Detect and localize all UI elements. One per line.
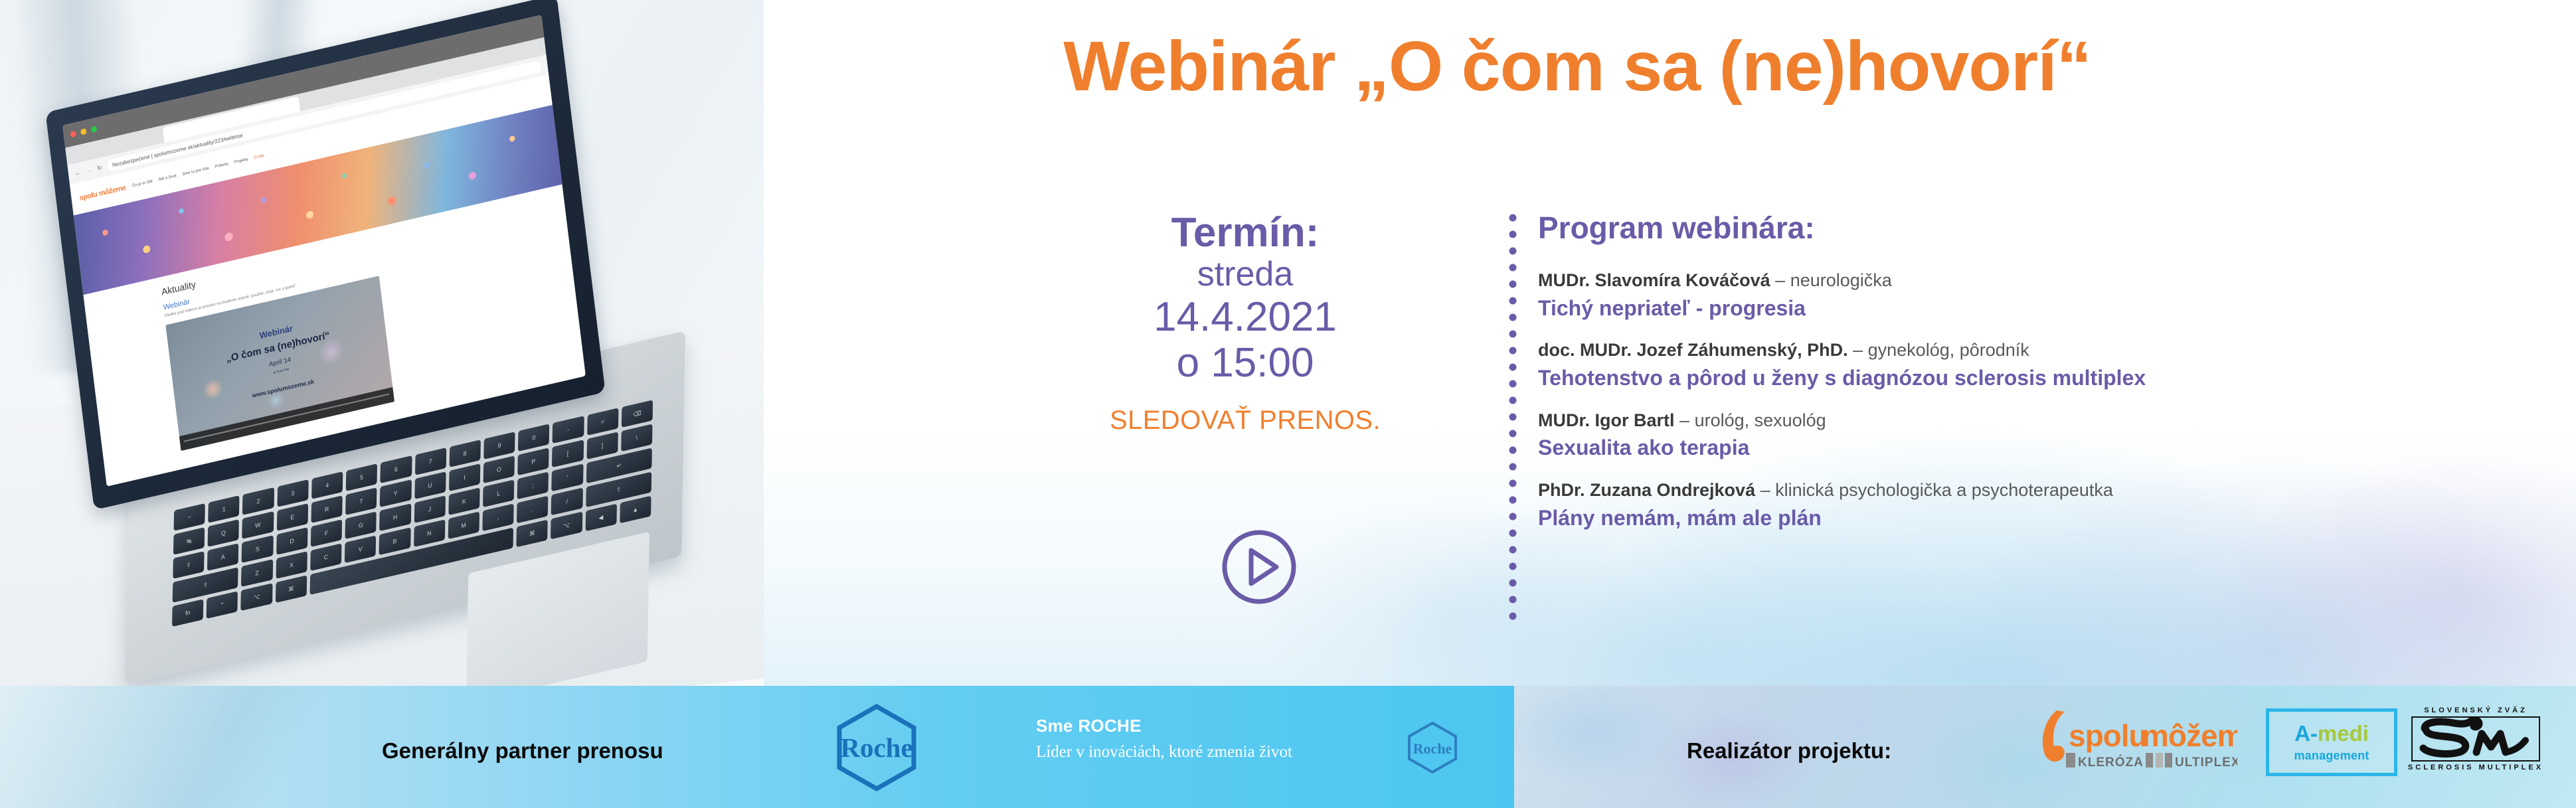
key: ⌃ <box>207 591 238 619</box>
key: Q <box>208 519 240 547</box>
speaker-line: PhDr. Zuzana Ondrejková – klinická psych… <box>1538 479 2534 502</box>
schedule-block: Termín: streda 14.4.2021 o 15:00 SLEDOVA… <box>1016 211 1474 436</box>
key: . <box>517 495 549 523</box>
key: K <box>448 487 480 515</box>
speaker-dash: – <box>1675 410 1695 430</box>
key: C <box>310 543 342 571</box>
roche-tagline: Líder v inováciách, ktoré zmenia život <box>1036 743 1292 762</box>
spolu-mozeme-icon: spolu môžeme KLERÓZA ULTIPLEX <box>2034 705 2237 774</box>
key: U <box>414 471 446 499</box>
key: N <box>414 519 446 547</box>
talk-title: Tehotenstvo a pôrod u ženy s diagnózou s… <box>1538 364 2534 392</box>
svg-text:Roche: Roche <box>1413 740 1452 757</box>
key: ; <box>517 471 549 499</box>
roche-logo-large: Roche <box>831 702 922 793</box>
svg-text:ULTIPLEX: ULTIPLEX <box>2175 756 2237 769</box>
nav-link[interactable]: Čo je to SM <box>132 179 153 188</box>
page-title: Webinár „O čom sa (ne)hovorí“ <box>764 28 2391 106</box>
roche-tagline-bold: Sme ROCHE <box>1036 716 1292 736</box>
general-partner-label: Generálny partner prenosu <box>382 738 663 764</box>
speaker-role: klinická psychologička a psychoterapeutk… <box>1775 480 2113 500</box>
speaker-dash: – <box>1755 480 1775 500</box>
maximize-icon[interactable] <box>90 125 97 133</box>
key: G <box>345 511 377 539</box>
key: D <box>276 527 308 555</box>
key: M <box>448 511 479 539</box>
speaker-line: MUDr. Slavomíra Kováčová – neurologička <box>1538 270 2534 292</box>
key: X <box>276 551 307 579</box>
sm-logo-bottom-text: SCLEROSIS MULTIPLEX <box>2408 764 2543 771</box>
key: H <box>379 503 411 531</box>
nav-link[interactable]: Sme tu pre Vás <box>182 167 209 177</box>
schedule-date: 14.4.2021 <box>1016 295 1474 340</box>
key: V <box>345 535 377 563</box>
key: B <box>379 527 411 555</box>
key: ⇪ <box>173 551 205 579</box>
amedi-management-logo: A-medi management <box>2266 708 2397 776</box>
key: R <box>311 495 343 523</box>
speaker-name: PhDr. Zuzana Ondrejková <box>1538 480 1755 500</box>
laptop-photo: ← → ↻ Nezabezpečené | spolumozeme.sk/akt… <box>0 0 764 687</box>
speaker-line: MUDr. Igor Bartl – urológ, sexuológ <box>1538 410 2534 432</box>
amedi-subtitle: management <box>2294 749 2369 763</box>
speaker-name: MUDr. Igor Bartl <box>1538 410 1675 430</box>
amedi-wordmark: A-medi <box>2294 722 2369 744</box>
play-button[interactable] <box>1221 528 1298 606</box>
key: ] <box>586 432 618 459</box>
key: S <box>242 535 274 563</box>
roche-hexagon-icon-small: Roche <box>1404 720 1461 775</box>
speaker-role: neurologička <box>1790 270 1892 290</box>
spolu-mozeme-logo: spolu môžeme KLERÓZA ULTIPLEX <box>2034 705 2237 774</box>
roche-hexagon-icon: Roche <box>831 702 922 793</box>
program-heading: Program webinára: <box>1538 210 2534 246</box>
play-icon[interactable] <box>1221 528 1298 606</box>
svg-text:môžeme: môžeme <box>2142 718 2237 753</box>
realizer-label: Realizátor projektu: <box>1687 738 1891 764</box>
minimize-icon[interactable] <box>80 128 87 135</box>
svg-text:KLERÓZA: KLERÓZA <box>2078 755 2144 769</box>
amedi-a: A- <box>2294 721 2318 746</box>
key: / <box>551 487 583 515</box>
talk-title: Plány nemám, mám ale plán <box>1538 505 2534 532</box>
close-icon[interactable] <box>70 130 76 137</box>
program-item: MUDr. Slavomíra Kováčová – neurologička … <box>1538 270 2534 322</box>
svg-text:spolu: spolu <box>2069 718 2147 753</box>
speaker-line: doc. MUDr. Jozef Záhumenský, PhD. – gyne… <box>1538 339 2534 362</box>
program-item: PhDr. Zuzana Ondrejková – klinická psych… <box>1538 479 2534 532</box>
program-block: Program webinára: MUDr. Slavomíra Kováčo… <box>1538 210 2534 549</box>
slovensky-zvaz-sm-logo: SLOVENSKÝ ZVÄZ SCLEROSIS MULTIPLEX <box>2405 704 2546 774</box>
schedule-day: streda <box>1016 254 1474 295</box>
speaker-dash: – <box>1848 340 1868 360</box>
svg-text:Roche: Roche <box>840 732 912 763</box>
key: ' <box>552 463 584 491</box>
key: fn <box>172 599 204 627</box>
speaker-name: doc. MUDr. Jozef Záhumenský, PhD. <box>1538 340 1848 360</box>
snake-sm-icon <box>2413 718 2536 758</box>
key: I <box>449 463 481 491</box>
nav-link[interactable]: SM a život <box>158 174 177 182</box>
speaker-dash: – <box>1770 270 1790 290</box>
nav-link[interactable]: Príbehy <box>215 162 228 169</box>
program-item: MUDr. Igor Bartl – urológ, sexuológ Sexu… <box>1538 410 2534 462</box>
program-item: doc. MUDr. Jozef Záhumenský, PhD. – gyne… <box>1538 339 2534 392</box>
sm-logo-top-text: SLOVENSKÝ ZVÄZ <box>2424 706 2528 714</box>
key: T <box>345 487 377 515</box>
key: Y <box>380 479 412 507</box>
talk-title: Sexualita ako terapia <box>1538 434 2534 462</box>
key: E <box>276 503 308 531</box>
nav-link[interactable]: O nás <box>254 154 264 161</box>
site-logo[interactable]: spolu môžeme <box>79 184 126 202</box>
key: Z <box>241 559 273 587</box>
nav-link[interactable]: Projekty <box>234 157 248 165</box>
amedi-medi: medi <box>2318 721 2369 746</box>
key: F <box>311 519 343 547</box>
roche-logo-small: Roche <box>1404 720 1461 775</box>
speaker-role: urológ, sexuológ <box>1695 410 1826 430</box>
back-icon[interactable]: ← <box>74 169 81 177</box>
speaker-role: gynekológ, pôrodník <box>1868 340 2029 360</box>
vertical-dotted-divider <box>1509 214 1517 625</box>
speaker-name: MUDr. Slavomíra Kováčová <box>1538 270 1770 290</box>
schedule-label: Termín: <box>1016 211 1474 254</box>
forward-icon[interactable]: → <box>86 167 92 175</box>
key: ◀ <box>585 504 617 532</box>
key: ↹ <box>173 527 205 555</box>
key: ⌥ <box>551 512 582 540</box>
watch-broadcast-cta[interactable]: SLEDOVAŤ PRENOS. <box>1016 406 1474 436</box>
sm-logo-mark <box>2411 716 2540 762</box>
key: \ <box>621 424 653 451</box>
key: A <box>207 543 239 571</box>
key: W <box>242 511 274 539</box>
webinar-banner: ← → ↻ Nezabezpečené | spolumozeme.sk/akt… <box>0 0 2576 808</box>
key: ⌥ <box>241 583 273 611</box>
key: ▲ <box>620 496 651 524</box>
key: J <box>414 495 446 523</box>
talk-title: Tichý nepriateľ - progresia <box>1538 295 2534 323</box>
key: ⌘ <box>276 575 307 603</box>
schedule-time: o 15:00 <box>1016 341 1474 386</box>
key: ⌘ <box>517 520 549 548</box>
reload-icon[interactable]: ↻ <box>96 164 102 173</box>
roche-tagline-block: Sme ROCHE Líder v inováciách, ktoré zmen… <box>1036 716 1292 762</box>
key: O <box>483 455 515 483</box>
key: P <box>517 447 549 475</box>
key: , <box>482 503 514 531</box>
key: L <box>483 479 515 507</box>
key: [ <box>552 440 584 467</box>
